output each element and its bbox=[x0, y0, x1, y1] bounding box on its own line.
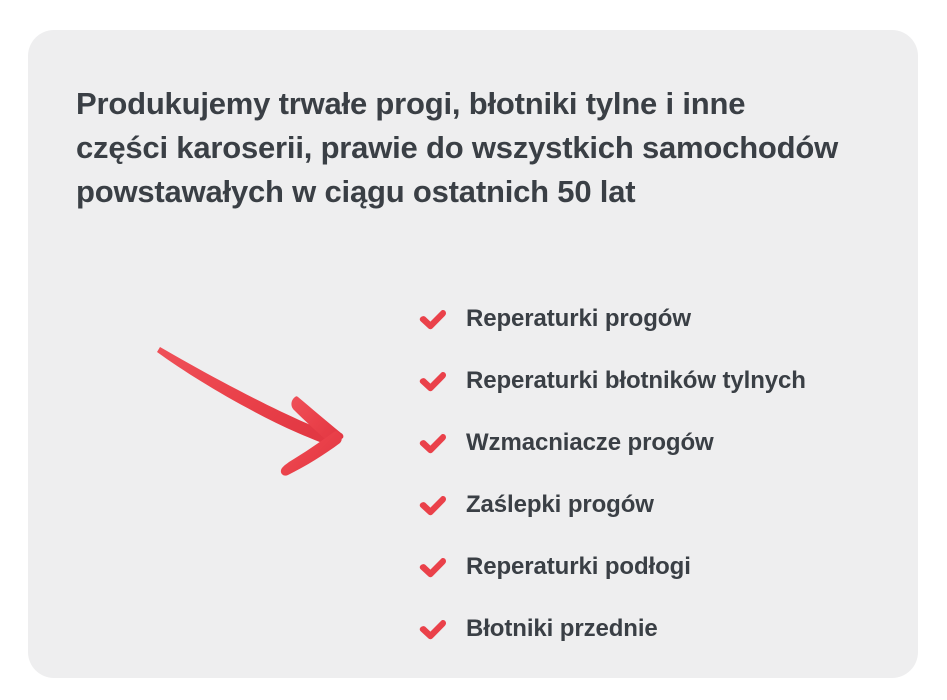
list-item-label: Reperaturki progów bbox=[466, 307, 691, 331]
check-icon bbox=[416, 364, 450, 398]
list-item: Reperaturki podłogi bbox=[416, 536, 886, 598]
list-item: Reperaturki progów bbox=[416, 288, 886, 350]
check-icon bbox=[416, 612, 450, 646]
curved-arrow-right-icon bbox=[138, 325, 368, 490]
list-item: Zaślepki progów bbox=[416, 474, 886, 536]
list-item: Wzmacniacze progów bbox=[416, 412, 886, 474]
check-icon bbox=[416, 550, 450, 584]
check-icon bbox=[416, 426, 450, 460]
page-title: Produkujemy trwałe progi, błotniki tylne… bbox=[76, 82, 876, 214]
feature-list: Reperaturki progów Reperaturki błotników… bbox=[416, 288, 886, 660]
list-item-label: Wzmacniacze progów bbox=[466, 431, 714, 455]
list-item-label: Zaślepki progów bbox=[466, 493, 654, 517]
promo-card: Produkujemy trwałe progi, błotniki tylne… bbox=[28, 30, 918, 678]
check-icon bbox=[416, 302, 450, 336]
list-item-label: Reperaturki błotników tylnych bbox=[466, 369, 806, 393]
page-root: Produkujemy trwałe progi, błotniki tylne… bbox=[0, 0, 947, 700]
list-item: Błotniki przednie bbox=[416, 598, 886, 660]
check-icon bbox=[416, 488, 450, 522]
list-item: Reperaturki błotników tylnych bbox=[416, 350, 886, 412]
list-item-label: Błotniki przednie bbox=[466, 617, 658, 641]
list-item-label: Reperaturki podłogi bbox=[466, 555, 691, 579]
